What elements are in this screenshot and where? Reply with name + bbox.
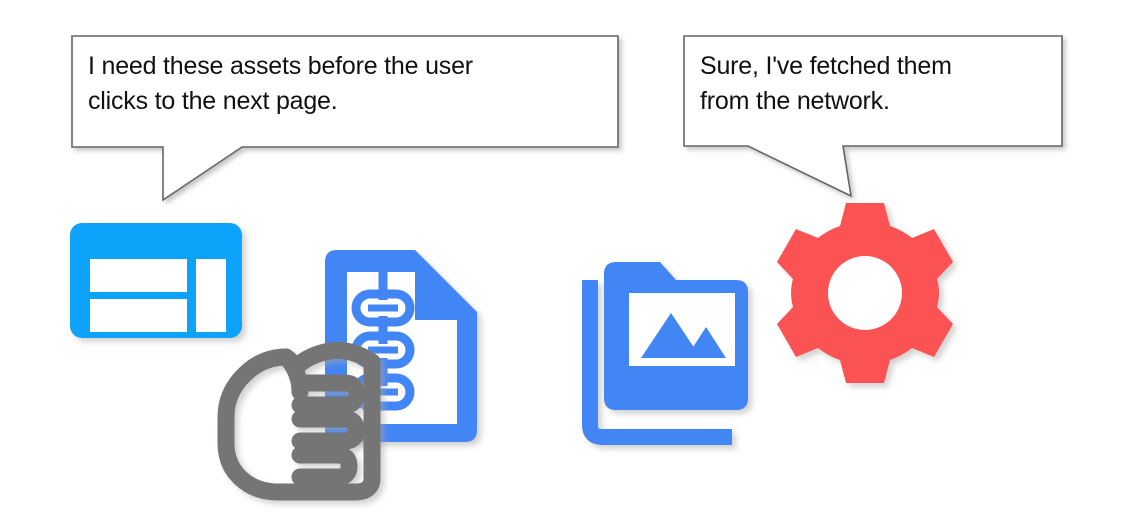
illustration-canvas: I need these assets before the user clic… [0,0,1130,528]
artwork-layer [0,0,1130,528]
page-layout-icon [70,223,242,338]
speech-bubble-right [684,36,1062,196]
image-folder-icon [590,262,748,437]
speech-bubble-left [72,36,618,200]
settings-gear-icon [777,203,953,383]
